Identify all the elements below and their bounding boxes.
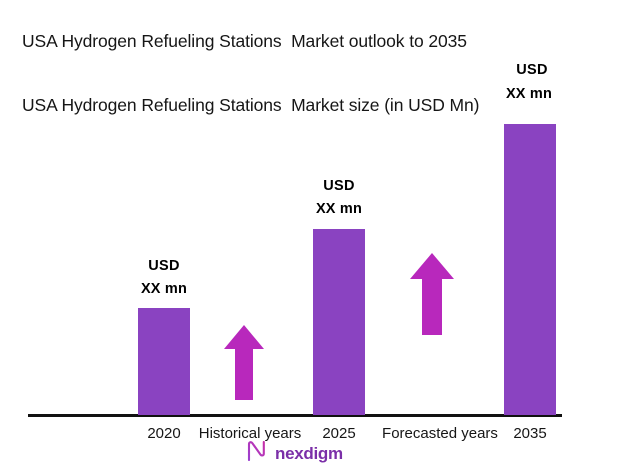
x-axis-label-historical-years: Historical years [191, 425, 309, 442]
nexdigm-logo: nexdigm [247, 441, 343, 466]
x-axis-label-2025: 2025 [307, 425, 371, 442]
data-label-2020: USD XX mn [122, 259, 206, 296]
data-label-2025-amount: XX mn [297, 202, 381, 217]
x-axis-label-2020: 2020 [132, 425, 196, 442]
data-label-2020-amount: XX mn [122, 282, 206, 297]
bar-2035[interactable] [504, 124, 556, 415]
growth-arrow-historical-icon [224, 325, 264, 400]
x-axis-label-forecasted-years: Forecasted years [373, 425, 507, 442]
data-label-2020-currency: USD [122, 259, 206, 274]
bar-chart-plot-area: USD XX mn USD XX mn USD XX mn 2020 Histo… [0, 0, 622, 471]
x-axis-baseline [28, 414, 562, 417]
x-axis-label-2035: 2035 [498, 425, 562, 442]
nexdigm-wave-mark-icon [247, 441, 269, 466]
nexdigm-logo-text: nexdigm [275, 445, 343, 462]
bar-2020[interactable] [138, 308, 190, 415]
bar-2025[interactable] [313, 229, 365, 415]
data-label-2035-amount: XX mn [490, 87, 574, 102]
growth-arrow-forecast-icon [410, 253, 454, 335]
data-label-2035: USD XX mn [490, 63, 574, 101]
data-label-2035-currency: USD [490, 63, 574, 78]
data-label-2025-currency: USD [297, 179, 381, 194]
data-label-2025: USD XX mn [297, 179, 381, 216]
